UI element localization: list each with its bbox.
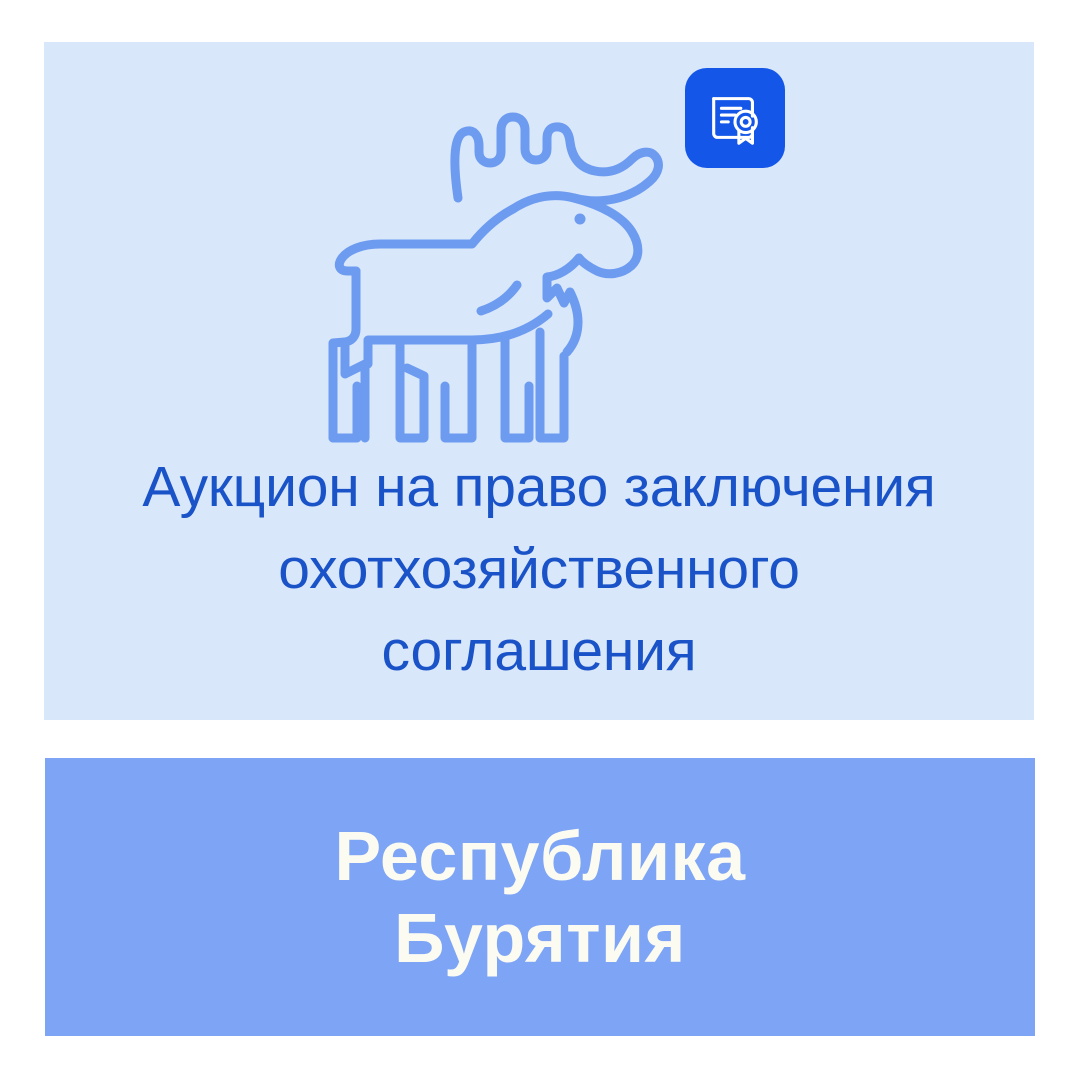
page-title-line-1: Аукцион на право заключения bbox=[44, 446, 1034, 528]
poster-root: Аукцион на право заключения охотхозяйств… bbox=[0, 0, 1080, 1080]
moose-outline-icon bbox=[312, 86, 672, 446]
page-title-line-2: охотхозяйственного bbox=[44, 528, 1034, 610]
page-title: Аукцион на право заключения охотхозяйств… bbox=[44, 446, 1034, 692]
illustration-area bbox=[44, 42, 1034, 442]
page-title-line-3: соглашения bbox=[44, 610, 1034, 692]
certificate-award-icon bbox=[685, 68, 785, 168]
region-name-line-1: Республика bbox=[334, 815, 745, 897]
announcement-card: Аукцион на право заключения охотхозяйств… bbox=[44, 42, 1034, 720]
region-banner: Республика Бурятия bbox=[45, 758, 1035, 1036]
region-name-line-2: Бурятия bbox=[394, 897, 686, 979]
